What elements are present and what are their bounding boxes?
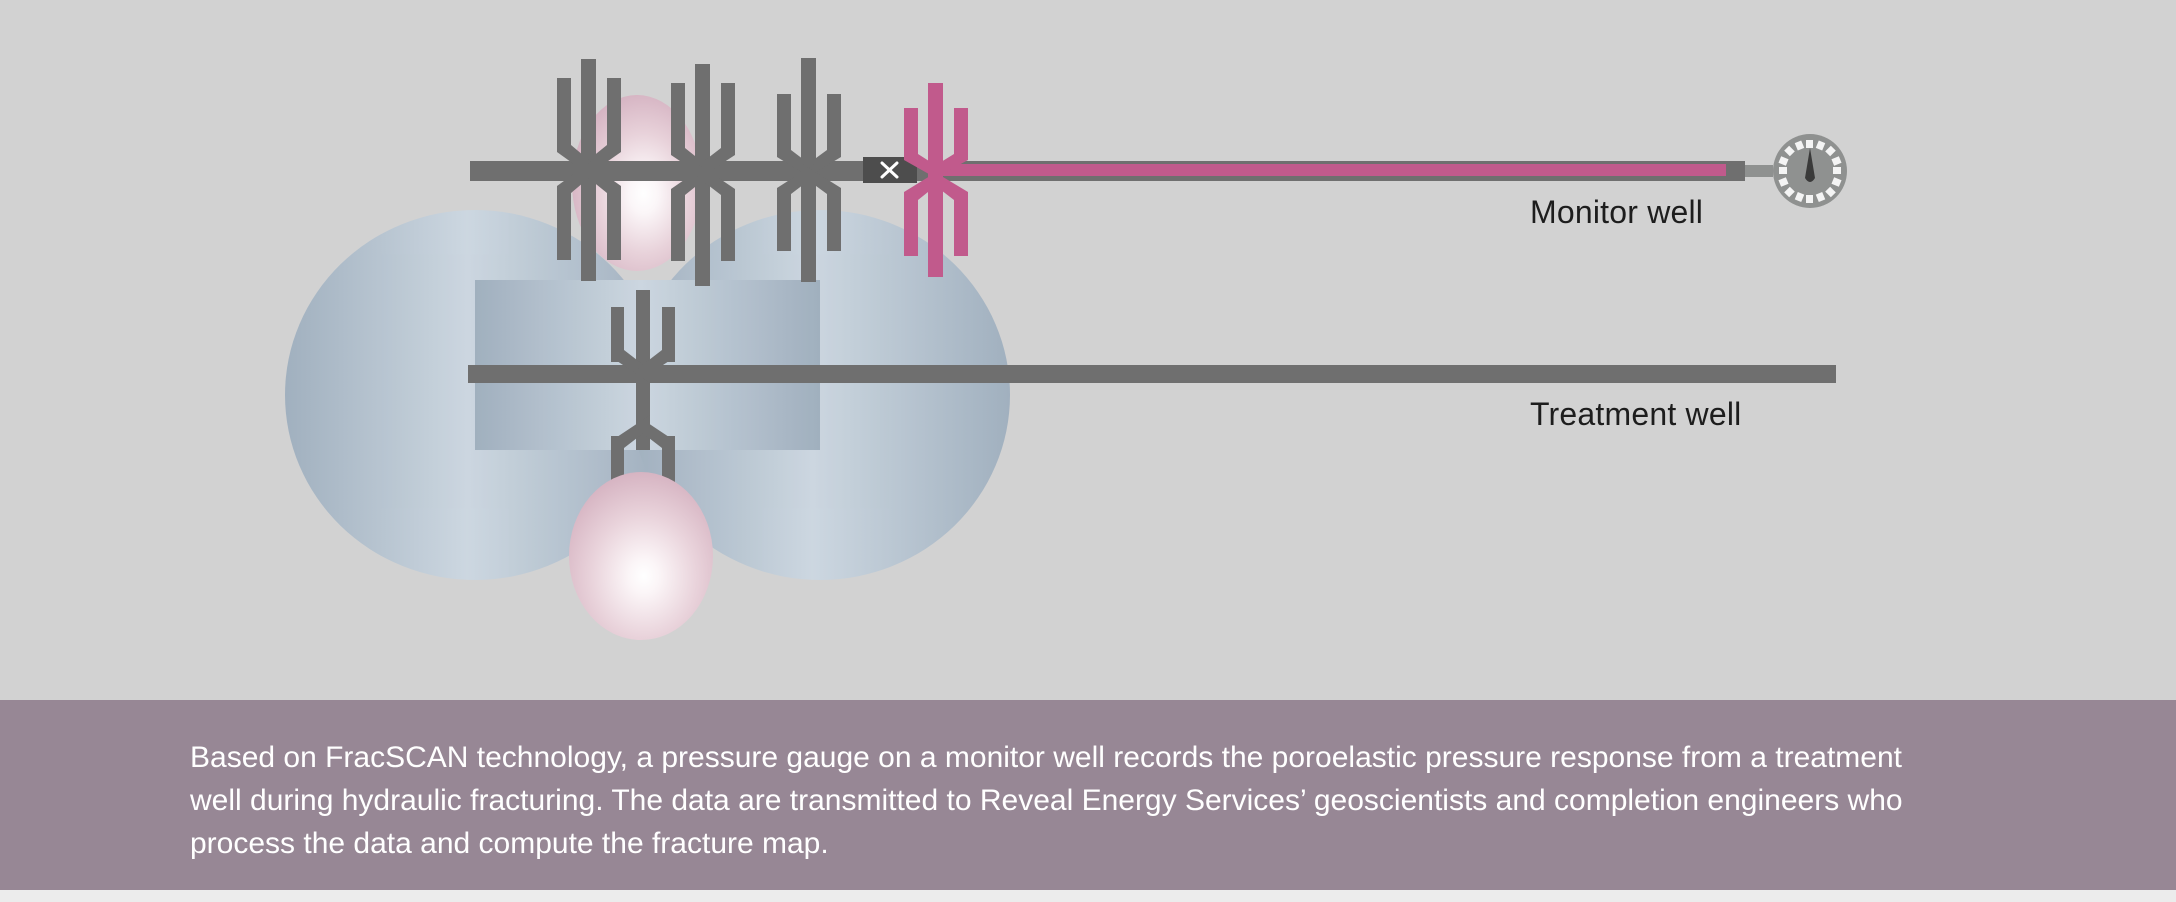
gauge-connector-stem [1745, 165, 1773, 177]
monitor-well-label: Monitor well [1530, 194, 1703, 231]
treatment-well-casing [468, 365, 1836, 383]
bottom-strip [0, 890, 2176, 902]
figure-stage: Monitor well Treatment well Based on Fra… [0, 0, 2176, 902]
caption-band: Based on FracSCAN technology, a pressure… [0, 700, 2176, 890]
monitor-well-fiber-line [930, 164, 1726, 176]
caption-text: Based on FracSCAN technology, a pressure… [190, 736, 1950, 865]
diagram-svg [0, 0, 2176, 700]
pressure-gauge[interactable] [1773, 134, 1847, 208]
well-diagram-illustration: Monitor well Treatment well [0, 0, 2176, 700]
fracture-blob-lower [569, 472, 713, 640]
treatment-well-label: Treatment well [1530, 396, 1741, 433]
